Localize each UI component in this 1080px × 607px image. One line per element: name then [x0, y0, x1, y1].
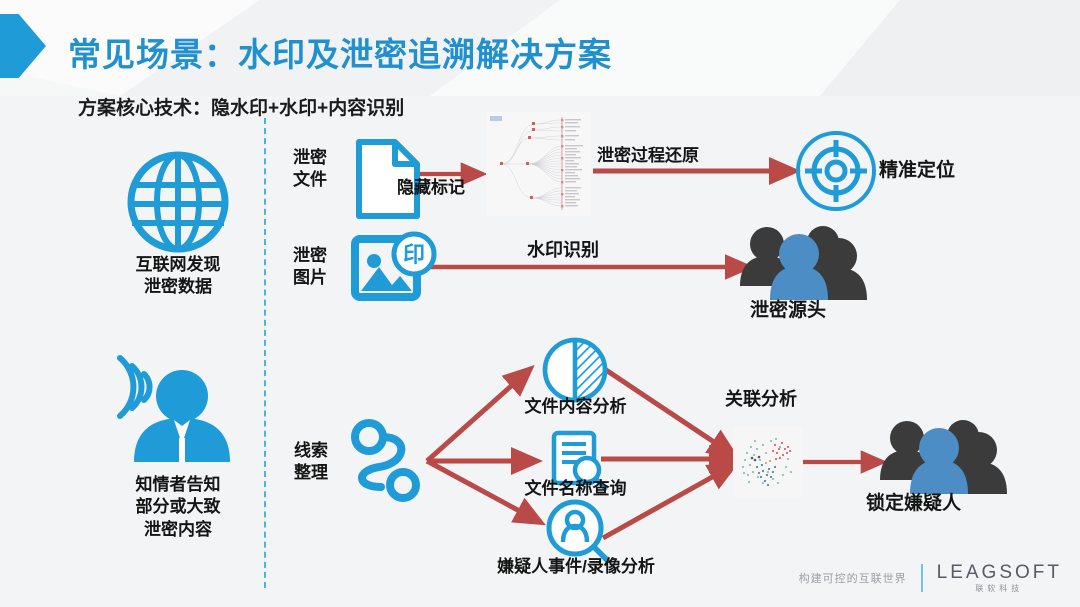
row-clue-branch-label-3: 嫌疑人事件/录像分析 — [476, 556, 676, 578]
source-label-informant-line2: 部分或大致 — [108, 496, 248, 518]
page-subtitle: 方案核心技术：隐水印+水印+内容识别 — [78, 93, 404, 120]
source-label-informant-line3: 泄密内容 — [108, 519, 248, 541]
row-clue-input-label: 线索 整理 — [283, 440, 339, 485]
row-clue-input-label-line1: 线索 — [283, 440, 339, 462]
slide-canvas: 常见场景：水印及泄密追溯解决方案 方案核心技术：隐水印+水印+内容识别 — [0, 0, 1080, 607]
row-file-input-label-line2: 文件 — [282, 169, 338, 191]
footer-tagline: 构建可控的互联世界 — [799, 570, 907, 586]
row-clue-branch-label-1: 文件内容分析 — [513, 396, 638, 418]
row-clue-branch-label-2: 文件名称查询 — [513, 478, 638, 500]
row-image-input-label: 泄密 图片 — [282, 245, 338, 290]
source-label-informant-line1: 知情者告知 — [108, 474, 248, 496]
dendrogram-chart — [486, 112, 591, 216]
row-image-input-label-line2: 图片 — [282, 267, 338, 289]
row-image-result-label: 泄密源头 — [750, 298, 826, 323]
row-file-arrow1-label: 隐藏标记 — [397, 177, 465, 199]
row-clue-result-label: 锁定嫌疑人 — [866, 491, 961, 516]
source-label-internet: 互联网发现 泄密数据 — [108, 254, 248, 299]
source-label-internet-line1: 互联网发现 — [108, 254, 248, 276]
source-label-informant: 知情者告知 部分或大致 泄密内容 — [108, 474, 248, 541]
row-image-arrow-label: 水印识别 — [527, 239, 599, 263]
row-file-arrow2-label: 泄密过程还原 — [597, 145, 699, 167]
brand-name-en: LEAGSOFT — [937, 563, 1062, 582]
row-file-result-label: 精准定位 — [879, 158, 955, 183]
cluster-scatter-chart — [733, 427, 803, 497]
section-divider — [264, 118, 266, 588]
page-title: 常见场景：水印及泄密追溯解决方案 — [68, 28, 612, 76]
footer-separator — [921, 564, 923, 592]
brand-logo: LEAGSOFT 联软科技 — [937, 563, 1062, 593]
row-file-input-label-line1: 泄密 — [282, 147, 338, 169]
brand-name-cn: 联软科技 — [975, 585, 1023, 593]
footer: 构建可控的互联世界 LEAGSOFT 联软科技 — [799, 563, 1062, 593]
row-image-input-label-line1: 泄密 — [282, 245, 338, 267]
row-clue-input-label-line2: 整理 — [283, 462, 339, 484]
row-clue-merge-label: 关联分析 — [725, 388, 797, 412]
source-label-internet-line2: 泄密数据 — [108, 276, 248, 298]
row-file-input-label: 泄密 文件 — [282, 147, 338, 192]
